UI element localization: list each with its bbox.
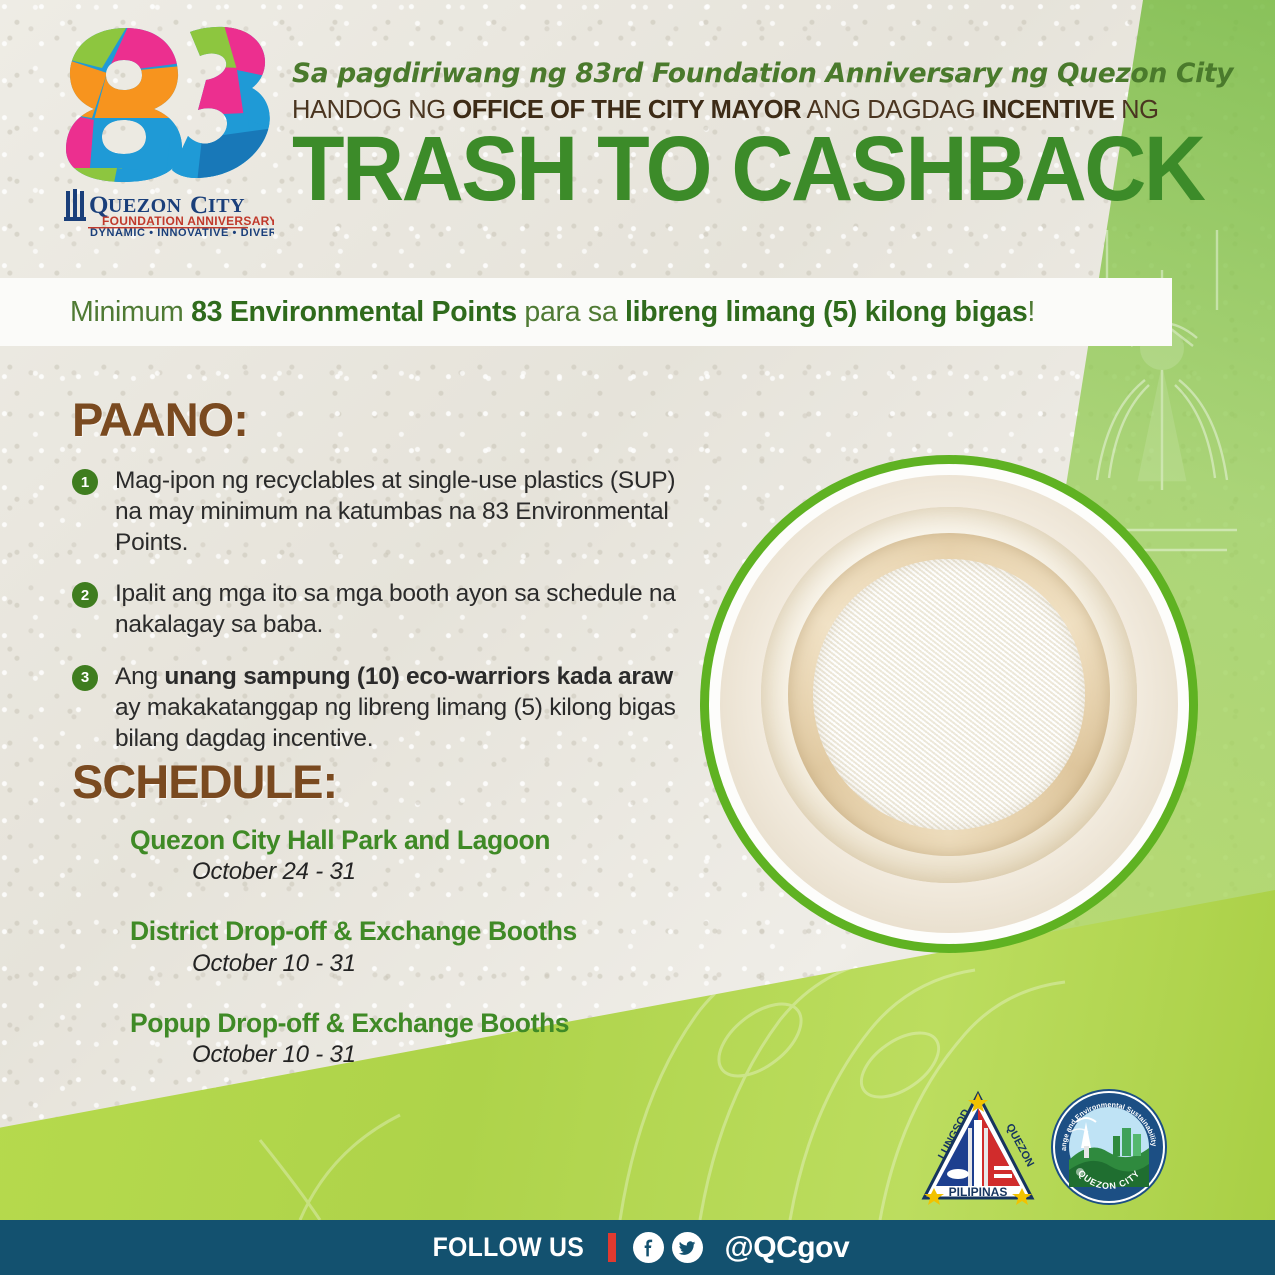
subtitle-pre: Minimum — [70, 296, 191, 328]
page-title: TRASH TO CASHBACK — [292, 123, 1172, 217]
rice-bowl-photo: Photo from Google Images — [720, 475, 1178, 933]
official-seals: LUNGSOD QUEZON PILIPINAS Climate Change — [918, 1088, 1168, 1206]
paano-steps-list: 1 Mag-ipon ng recyclables at single-use … — [72, 465, 692, 754]
list-item: 2 Ipalit ang mga ito sa mga booth ayon s… — [72, 578, 692, 640]
qc-83-anniversary-logo: Q UEZON C ITY FOUNDATION ANNIVERSARY DYN… — [62, 18, 274, 240]
paano-section: PAANO: 1 Mag-ipon ng recyclables at sing… — [72, 396, 692, 774]
subtitle-post: ! — [1027, 296, 1035, 328]
step-text: Mag-ipon ng recyclables at single-use pl… — [115, 465, 692, 558]
social-links[interactable] — [633, 1232, 703, 1263]
schedule-place: Quezon City Hall Park and Lagoon — [130, 825, 692, 855]
svg-text:DYNAMIC • INNOVATIVE • DIVERSE: DYNAMIC • INNOVATIVE • DIVERSE — [90, 227, 274, 237]
schedule-place: District Drop-off & Exchange Booths — [130, 916, 692, 946]
subtitle-text: Minimum 83 Environmental Points para sa … — [70, 296, 1035, 329]
schedule-list: Quezon City Hall Park and Lagoon October… — [130, 825, 692, 1069]
list-item: 3 Ang unang sampung (10) eco-warriors ka… — [72, 661, 692, 754]
step-number-badge: 2 — [72, 582, 98, 608]
list-item: District Drop-off & Exchange Booths Octo… — [130, 916, 692, 977]
poster-header: Q UEZON C ITY FOUNDATION ANNIVERSARY DYN… — [0, 0, 1275, 278]
schedule-heading: SCHEDULE: — [72, 758, 692, 805]
schedule-date: October 10 - 31 — [192, 950, 692, 978]
rice-grains — [813, 559, 1084, 830]
step-text-pre: Mag-ipon ng recyclables at single-use pl… — [115, 467, 675, 556]
follow-us-label: FOLLOW US — [432, 1232, 584, 1263]
twitter-icon[interactable] — [672, 1232, 703, 1263]
paano-heading: PAANO: — [72, 396, 692, 443]
step-text: Ipalit ang mga ito sa mga booth ayon sa … — [115, 578, 692, 640]
list-item: Quezon City Hall Park and Lagoon October… — [130, 825, 692, 886]
step-number-badge: 3 — [72, 665, 98, 691]
rice-bowl-rim — [788, 533, 1111, 856]
list-item: 1 Mag-ipon ng recyclables at single-use … — [72, 465, 692, 558]
step-number-badge: 1 — [72, 469, 98, 495]
subtitle-reward: libreng limang (5) kilong bigas — [625, 296, 1027, 328]
svg-text:FOUNDATION ANNIVERSARY: FOUNDATION ANNIVERSARY — [102, 214, 274, 228]
facebook-icon[interactable] — [633, 1232, 664, 1263]
quezon-city-triangle-seal-icon: LUNGSOD QUEZON PILIPINAS — [918, 1088, 1038, 1206]
subtitle-mid: para sa — [517, 296, 625, 328]
subtitle-points: 83 Environmental Points — [191, 296, 517, 328]
header-text-block: Sa pagdiriwang ng 83rd Foundation Annive… — [292, 58, 1172, 211]
social-handle[interactable]: @QCgov — [725, 1231, 850, 1265]
logo-83-numeral-icon — [62, 18, 274, 183]
ccesd-quezon-city-seal-icon: Climate Change and Environmental Sustain… — [1050, 1088, 1168, 1206]
anniversary-tagline: Sa pagdiriwang ng 83rd Foundation Annive… — [292, 58, 1172, 89]
schedule-place: Popup Drop-off & Exchange Booths — [130, 1008, 692, 1038]
qc-wordmark-icon: Q UEZON C ITY FOUNDATION ANNIVERSARY DYN… — [62, 185, 274, 237]
step-text-bold: unang sampung (10) eco-warriors kada ara… — [164, 663, 673, 690]
rice-bowl-body — [761, 507, 1137, 883]
seal-pilipinas-text: PILIPINAS — [949, 1185, 1008, 1199]
footer-bar: FOLLOW US @QCgov — [0, 1220, 1275, 1275]
poster-root: MBOY Y namomeng — [0, 0, 1275, 1275]
step-text: Ang unang sampung (10) eco-warriors kada… — [115, 661, 692, 754]
list-item: Popup Drop-off & Exchange Booths October… — [130, 1008, 692, 1069]
footer-divider — [608, 1233, 616, 1262]
subtitle-banner: Minimum 83 Environmental Points para sa … — [0, 278, 1172, 346]
schedule-date: October 10 - 31 — [192, 1041, 692, 1069]
rice-photo-white-ring: Photo from Google Images — [709, 464, 1189, 944]
step-text-post: ay makakatanggap ng libreng limang (5) k… — [115, 694, 676, 752]
step-text-pre: Ang — [115, 663, 164, 690]
rice-photo-circle: Photo from Google Images — [700, 455, 1198, 953]
step-text-pre: Ipalit ang mga ito sa mga booth ayon sa … — [115, 580, 676, 638]
schedule-date: October 24 - 31 — [192, 858, 692, 886]
schedule-section: SCHEDULE: Quezon City Hall Park and Lago… — [72, 758, 692, 1099]
